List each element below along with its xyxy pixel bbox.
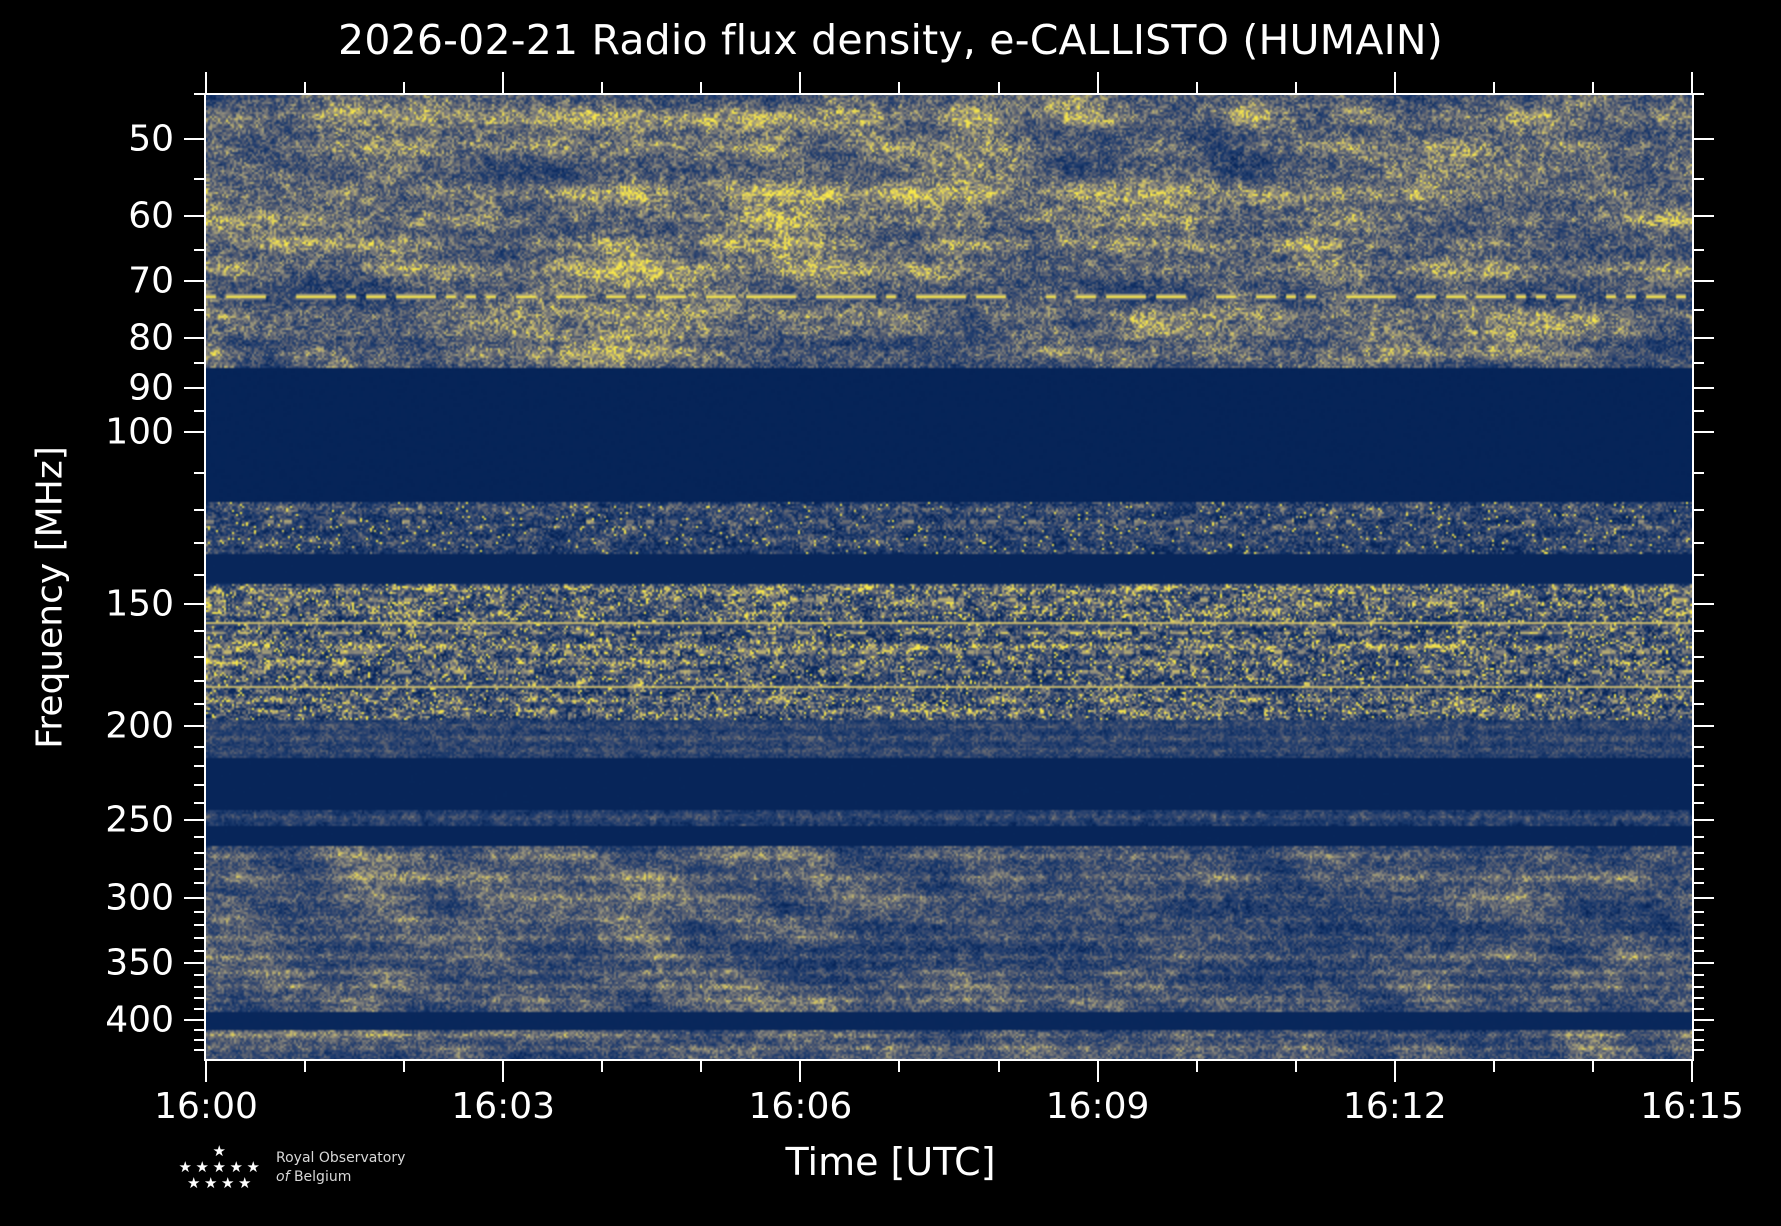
y-tick-350 xyxy=(1692,962,1714,964)
y-tick-250 xyxy=(184,819,206,821)
y-tick-400 xyxy=(184,1019,206,1021)
y-tick-200 xyxy=(1692,725,1714,727)
y-minor-tick xyxy=(1692,574,1704,576)
y-minor-tick xyxy=(1692,542,1704,544)
x-tick-16:09 xyxy=(1097,1060,1099,1082)
y-minor-tick xyxy=(194,746,206,748)
y-minor-tick xyxy=(1692,997,1704,999)
y-minor-tick xyxy=(1692,362,1704,364)
y-minor-tick xyxy=(194,703,206,705)
y-tick-100 xyxy=(184,431,206,433)
y-minor-tick xyxy=(194,1049,206,1051)
x-tick-16:12 xyxy=(1394,1060,1396,1082)
y-minor-tick xyxy=(1692,802,1704,804)
y-minor-tick xyxy=(1692,1049,1704,1051)
y-minor-tick xyxy=(1692,852,1704,854)
y-minor-tick xyxy=(194,656,206,658)
x-minor-tick xyxy=(998,1060,1000,1072)
y-minor-tick xyxy=(194,784,206,786)
y-minor-tick xyxy=(1692,309,1704,311)
y-minor-tick xyxy=(1692,765,1704,767)
x-minor-tick xyxy=(601,82,603,94)
figure-root: 2026-02-21 Radio flux density, e-CALLIST… xyxy=(0,0,1781,1226)
y-minor-tick xyxy=(194,802,206,804)
y-tick-250 xyxy=(1692,819,1714,821)
y-tick-50 xyxy=(1692,138,1714,140)
x-tick-16:09 xyxy=(1097,72,1099,94)
y-minor-tick xyxy=(194,911,206,913)
y-minor-tick xyxy=(194,868,206,870)
y-minor-tick xyxy=(194,630,206,632)
y-tick-50 xyxy=(184,138,206,140)
y-axis-label: Frequency [MHz] xyxy=(30,358,71,838)
y-tick-label-70: 70 xyxy=(4,261,174,302)
y-tick-150 xyxy=(184,603,206,605)
axis-left-spine xyxy=(204,93,206,1061)
x-tick-label-16:03: 16:03 xyxy=(383,1086,623,1127)
y-minor-tick xyxy=(194,1039,206,1041)
logo-line-1: Royal Observatory xyxy=(276,1149,405,1168)
y-minor-tick xyxy=(1692,93,1704,95)
y-minor-tick xyxy=(1692,410,1704,412)
y-minor-tick xyxy=(194,950,206,952)
y-minor-tick xyxy=(1692,882,1704,884)
x-tick-label-16:06: 16:06 xyxy=(680,1086,920,1127)
y-minor-tick xyxy=(1692,974,1704,976)
y-minor-tick xyxy=(194,542,206,544)
y-tick-60 xyxy=(1692,215,1714,217)
y-minor-tick xyxy=(194,937,206,939)
x-tick-label-16:09: 16:09 xyxy=(978,1086,1218,1127)
y-minor-tick xyxy=(1692,937,1704,939)
y-minor-tick xyxy=(194,765,206,767)
x-minor-tick xyxy=(1493,82,1495,94)
y-minor-tick xyxy=(194,249,206,251)
y-minor-tick xyxy=(194,309,206,311)
x-tick-16:00 xyxy=(205,1060,207,1082)
y-tick-100 xyxy=(1692,431,1714,433)
y-minor-tick xyxy=(194,680,206,682)
x-minor-tick xyxy=(1295,1060,1297,1072)
y-minor-tick xyxy=(1692,703,1704,705)
y-tick-80 xyxy=(1692,337,1714,339)
logo-stars-icon: ★★★★★★★★★★ xyxy=(176,1142,266,1194)
y-tick-label-50: 50 xyxy=(4,118,174,159)
x-tick-16:06 xyxy=(799,1060,801,1082)
y-minor-tick xyxy=(194,986,206,988)
x-tick-16:03 xyxy=(502,1060,504,1082)
y-tick-300 xyxy=(1692,897,1714,899)
y-minor-tick xyxy=(194,882,206,884)
x-minor-tick xyxy=(898,1060,900,1072)
y-tick-label-80: 80 xyxy=(4,317,174,358)
y-minor-tick xyxy=(194,997,206,999)
y-minor-tick xyxy=(194,362,206,364)
y-tick-label-350: 350 xyxy=(4,943,174,984)
y-minor-tick xyxy=(194,472,206,474)
star-icon: ★ xyxy=(204,1176,217,1191)
y-minor-tick xyxy=(194,509,206,511)
x-tick-label-16:15: 16:15 xyxy=(1572,1086,1781,1127)
star-icon: ★ xyxy=(247,1160,260,1175)
logo-belgium-word: Belgium xyxy=(290,1169,352,1185)
x-tick-16:03 xyxy=(502,72,504,94)
axis-bottom-spine xyxy=(204,1059,1694,1061)
royal-observatory-logo: ★★★★★★★★★★ Royal Observatory of Belgium xyxy=(176,1142,405,1194)
x-minor-tick xyxy=(403,82,405,94)
y-tick-label-60: 60 xyxy=(4,195,174,236)
y-tick-80 xyxy=(184,337,206,339)
y-minor-tick xyxy=(1692,746,1704,748)
y-tick-300 xyxy=(184,897,206,899)
x-minor-tick xyxy=(1592,82,1594,94)
y-minor-tick xyxy=(1692,249,1704,251)
y-minor-tick xyxy=(194,1029,206,1031)
x-tick-label-16:00: 16:00 xyxy=(86,1086,326,1127)
x-minor-tick xyxy=(700,82,702,94)
y-minor-tick xyxy=(1692,472,1704,474)
x-minor-tick xyxy=(304,1060,306,1072)
y-minor-tick xyxy=(1692,1029,1704,1031)
x-minor-tick xyxy=(1493,1060,1495,1072)
y-minor-tick xyxy=(194,410,206,412)
y-minor-tick xyxy=(1692,986,1704,988)
y-minor-tick xyxy=(1692,656,1704,658)
star-icon: ★ xyxy=(213,1160,226,1175)
y-minor-tick xyxy=(194,574,206,576)
y-minor-tick xyxy=(1692,784,1704,786)
x-minor-tick xyxy=(304,82,306,94)
logo-of-word: of xyxy=(276,1169,290,1185)
y-minor-tick xyxy=(194,1008,206,1010)
y-tick-200 xyxy=(184,725,206,727)
x-tick-16:15 xyxy=(1691,72,1693,94)
x-minor-tick xyxy=(998,82,1000,94)
logo-text: Royal Observatory of Belgium xyxy=(276,1149,405,1187)
y-minor-tick xyxy=(1692,178,1704,180)
y-tick-60 xyxy=(184,215,206,217)
star-icon: ★ xyxy=(196,1160,209,1175)
star-icon: ★ xyxy=(213,1144,226,1159)
spectrogram-plot-area xyxy=(206,94,1692,1060)
y-tick-90 xyxy=(184,387,206,389)
y-minor-tick xyxy=(1692,1008,1704,1010)
page-title: 2026-02-21 Radio flux density, e-CALLIST… xyxy=(0,16,1781,64)
x-minor-tick xyxy=(700,1060,702,1072)
y-minor-tick xyxy=(1692,868,1704,870)
spectrogram-image xyxy=(206,94,1692,1060)
y-tick-label-400: 400 xyxy=(4,999,174,1040)
x-minor-tick xyxy=(1196,1060,1198,1072)
x-minor-tick xyxy=(403,1060,405,1072)
star-icon: ★ xyxy=(221,1176,234,1191)
y-minor-tick xyxy=(1692,509,1704,511)
y-tick-90 xyxy=(1692,387,1714,389)
y-minor-tick xyxy=(1692,924,1704,926)
y-tick-150 xyxy=(1692,603,1714,605)
star-icon: ★ xyxy=(230,1160,243,1175)
star-icon: ★ xyxy=(238,1176,251,1191)
y-tick-70 xyxy=(1692,280,1714,282)
x-tick-16:06 xyxy=(799,72,801,94)
x-tick-16:12 xyxy=(1394,72,1396,94)
y-tick-label-300: 300 xyxy=(4,877,174,918)
x-tick-label-16:12: 16:12 xyxy=(1275,1086,1515,1127)
star-icon: ★ xyxy=(187,1176,200,1191)
x-minor-tick xyxy=(1592,1060,1594,1072)
y-tick-70 xyxy=(184,280,206,282)
axis-top-spine xyxy=(204,93,1694,95)
x-tick-16:15 xyxy=(1691,1060,1693,1082)
y-minor-tick xyxy=(1692,1039,1704,1041)
y-minor-tick xyxy=(194,836,206,838)
y-minor-tick xyxy=(1692,680,1704,682)
y-minor-tick xyxy=(194,852,206,854)
y-tick-350 xyxy=(184,962,206,964)
x-minor-tick xyxy=(1196,82,1198,94)
star-icon: ★ xyxy=(179,1160,192,1175)
x-minor-tick xyxy=(1295,82,1297,94)
y-minor-tick xyxy=(194,924,206,926)
x-minor-tick xyxy=(601,1060,603,1072)
x-tick-16:00 xyxy=(205,72,207,94)
y-minor-tick xyxy=(1692,950,1704,952)
y-minor-tick xyxy=(194,974,206,976)
x-minor-tick xyxy=(898,82,900,94)
y-minor-tick xyxy=(1692,836,1704,838)
y-minor-tick xyxy=(194,178,206,180)
axis-right-spine xyxy=(1692,93,1694,1061)
logo-line-2: of Belgium xyxy=(276,1168,405,1187)
y-minor-tick xyxy=(1692,630,1704,632)
y-tick-400 xyxy=(1692,1019,1714,1021)
y-minor-tick xyxy=(1692,911,1704,913)
